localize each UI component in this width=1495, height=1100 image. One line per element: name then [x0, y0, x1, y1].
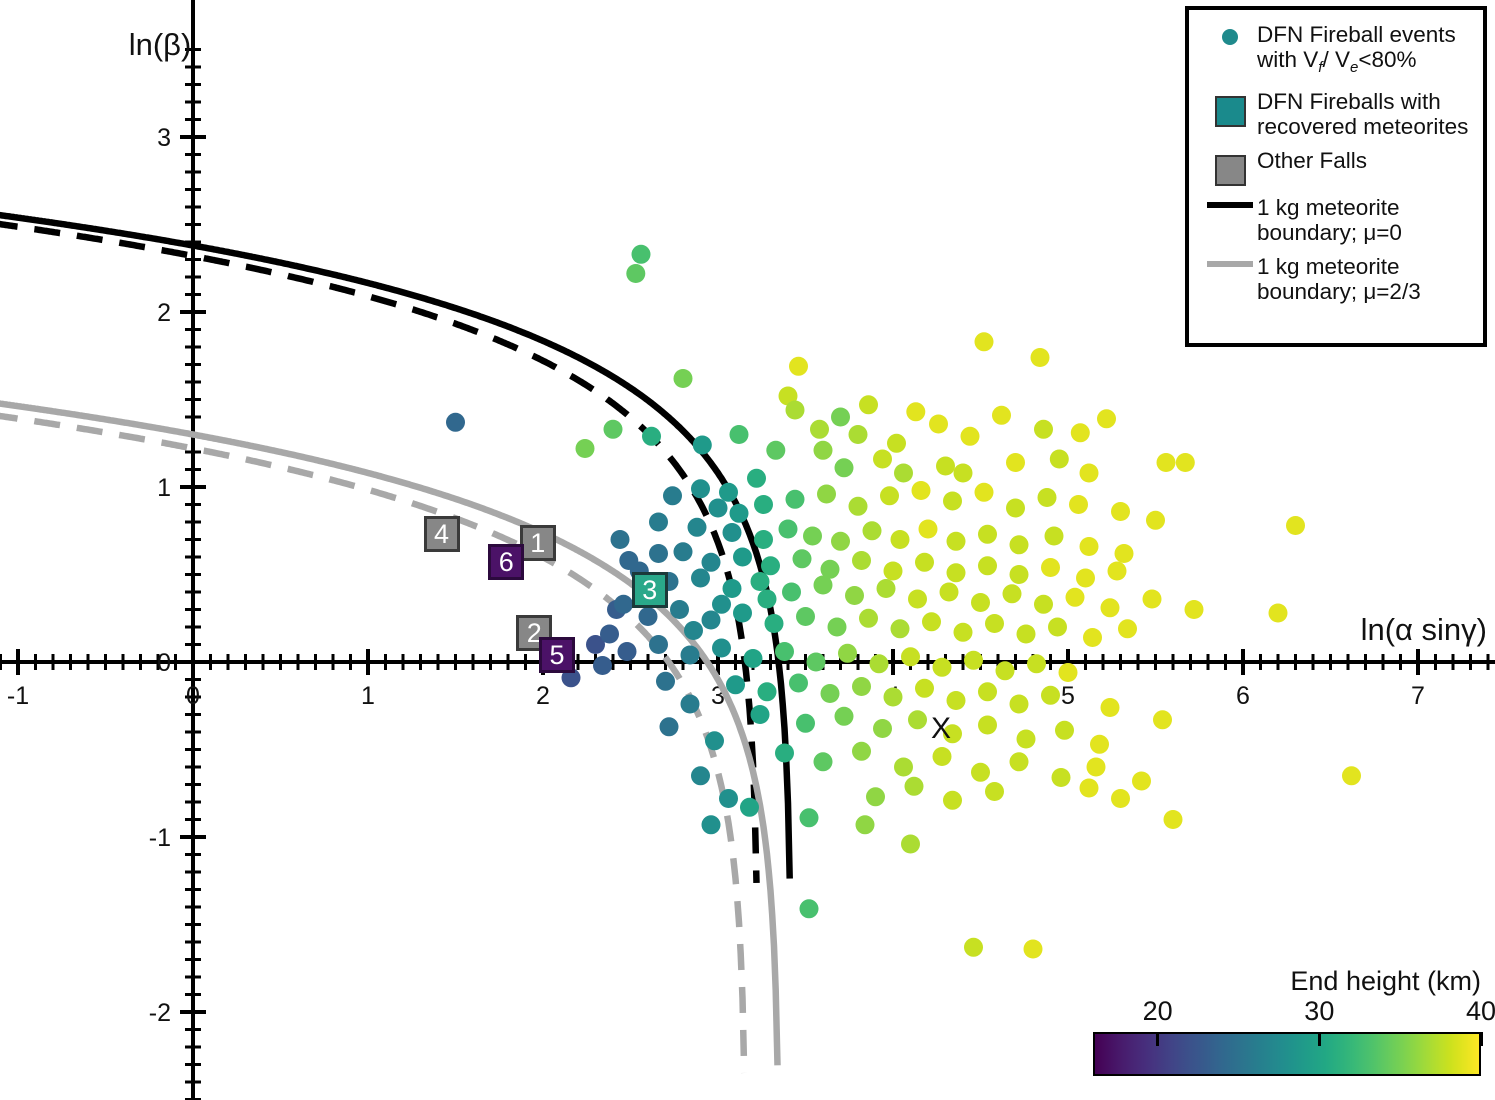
data-point — [975, 332, 994, 351]
data-point — [1024, 940, 1043, 959]
data-point — [649, 635, 668, 654]
data-point — [800, 808, 819, 827]
data-point — [894, 758, 913, 777]
x-tick-label: 7 — [1411, 682, 1425, 710]
data-point — [852, 677, 871, 696]
data-point — [656, 672, 675, 691]
data-point — [978, 682, 997, 701]
data-point — [807, 653, 826, 672]
data-point — [1286, 516, 1305, 535]
data-point — [691, 766, 710, 785]
data-point — [793, 549, 812, 568]
data-point — [1176, 453, 1195, 472]
data-point — [947, 532, 966, 551]
data-point — [1090, 735, 1109, 754]
data-point — [1157, 453, 1176, 472]
boundary-curve — [0, 214, 790, 879]
data-point — [915, 679, 934, 698]
data-point — [1185, 600, 1204, 619]
data-point — [1342, 766, 1361, 785]
legend-label-recovered-meteorites: DFN Fireballs with recovered meteorites — [1257, 89, 1468, 139]
data-point — [733, 548, 752, 567]
data-point — [712, 639, 731, 658]
data-point — [954, 464, 973, 483]
data-point — [828, 618, 847, 637]
data-point — [1034, 595, 1053, 614]
data-point — [611, 530, 630, 549]
legend-key-dot — [1203, 22, 1257, 45]
data-point — [814, 441, 833, 460]
data-point — [766, 441, 785, 460]
data-point — [1111, 789, 1130, 808]
legend-label-other-falls: Other Falls — [1257, 148, 1367, 173]
data-point — [593, 656, 612, 675]
data-point — [1010, 535, 1029, 554]
data-point — [863, 521, 882, 540]
data-point — [915, 553, 934, 572]
numbered-marker-label: 5 — [549, 642, 564, 669]
data-point — [835, 458, 854, 477]
data-point — [681, 695, 700, 714]
x-cross-annotation: X — [931, 712, 951, 745]
y-tick-label: 1 — [157, 474, 171, 502]
data-point — [730, 504, 749, 523]
data-point — [859, 395, 878, 414]
data-point — [1017, 625, 1036, 644]
data-point — [723, 523, 742, 542]
square-icon — [1215, 155, 1246, 186]
x-tick-label: 1 — [361, 682, 375, 710]
data-point — [906, 402, 925, 421]
data-point — [961, 427, 980, 446]
colorbar-tick-label: 20 — [1132, 996, 1184, 1027]
colorbar-tick-label: 40 — [1455, 996, 1495, 1027]
x-tick-label: 2 — [536, 682, 550, 710]
data-point — [1118, 619, 1137, 638]
data-point — [1087, 758, 1106, 777]
data-point — [1010, 565, 1029, 584]
data-point — [632, 245, 651, 264]
x-tick-label: 5 — [1061, 682, 1075, 710]
data-point — [971, 593, 990, 612]
line-icon — [1207, 202, 1253, 208]
data-point — [1006, 453, 1025, 472]
legend-key-square-teal — [1203, 89, 1257, 127]
data-point — [971, 763, 990, 782]
data-point — [884, 562, 903, 581]
data-point — [1006, 499, 1025, 518]
data-point — [978, 525, 997, 544]
data-point — [1041, 686, 1060, 705]
data-point — [891, 530, 910, 549]
numbered-marker-5[interactable]: 5 — [539, 637, 575, 673]
data-point — [1269, 604, 1288, 623]
colorbar-tick — [1156, 1032, 1159, 1046]
data-point-layer — [446, 245, 1361, 959]
data-point — [849, 425, 868, 444]
boundary-curve-layer — [0, 214, 790, 1073]
data-point — [744, 649, 763, 668]
circle-icon — [1222, 29, 1238, 45]
data-point — [775, 744, 794, 763]
data-point — [702, 611, 721, 630]
data-point — [870, 654, 889, 673]
data-point — [933, 747, 952, 766]
data-point — [856, 815, 875, 834]
data-point — [1069, 495, 1088, 514]
data-point — [730, 425, 749, 444]
data-point — [978, 716, 997, 735]
data-point — [936, 457, 955, 476]
data-point — [1080, 537, 1099, 556]
data-point — [800, 899, 819, 918]
data-point — [852, 551, 871, 570]
legend-label-line2: boundary; μ=2/3 — [1257, 279, 1421, 304]
data-point — [873, 719, 892, 738]
legend-label-line1: DFN Fireballs with — [1257, 89, 1441, 114]
data-point — [884, 688, 903, 707]
data-point — [1041, 558, 1060, 577]
colorbar-tick-label: 30 — [1293, 996, 1345, 1027]
data-point — [821, 684, 840, 703]
data-point — [919, 520, 938, 539]
data-point — [933, 658, 952, 677]
legend-label-line1: 1 kg meteorite — [1257, 254, 1400, 279]
data-point — [1153, 710, 1172, 729]
data-point — [1146, 511, 1165, 530]
data-point — [674, 542, 693, 561]
legend-item-boundary-mu23[interactable]: 1 kg meteorite boundary; μ=2/3 — [1203, 254, 1473, 304]
data-point — [786, 490, 805, 509]
data-point — [814, 752, 833, 771]
data-point — [908, 590, 927, 609]
data-point — [964, 938, 983, 957]
data-point — [789, 674, 808, 693]
data-point — [740, 798, 759, 817]
data-point — [1083, 628, 1102, 647]
data-point — [1034, 420, 1053, 439]
data-point — [684, 621, 703, 640]
y-tick-label: 2 — [157, 299, 171, 327]
legend-item-recovered-meteorites[interactable]: DFN Fireballs with recovered meteorites — [1203, 89, 1473, 139]
data-point — [838, 644, 857, 663]
data-point — [733, 604, 752, 623]
data-point — [618, 642, 637, 661]
data-point — [614, 595, 633, 614]
data-point — [912, 481, 931, 500]
legend-label-line1: 1 kg meteorite — [1257, 195, 1400, 220]
data-point — [789, 357, 808, 376]
data-point — [1143, 590, 1162, 609]
data-point — [940, 583, 959, 602]
annotation-layer: X — [931, 712, 951, 745]
data-point — [891, 619, 910, 638]
numbered-marker-1[interactable]: 1 — [520, 525, 556, 561]
y-tick-label: 0 — [157, 649, 171, 677]
data-point — [831, 532, 850, 551]
data-point — [975, 483, 994, 502]
data-point — [1017, 730, 1036, 749]
x-axis-label: ln(α sinγ) — [1361, 612, 1487, 647]
data-point — [1132, 772, 1151, 791]
data-point — [859, 609, 878, 628]
data-point — [831, 408, 850, 427]
data-point — [751, 572, 770, 591]
data-point — [660, 717, 679, 736]
data-point — [803, 527, 822, 546]
data-point — [1027, 654, 1046, 673]
data-point — [873, 450, 892, 469]
data-point — [852, 742, 871, 761]
data-point — [845, 586, 864, 605]
data-point — [719, 789, 738, 808]
data-point — [947, 691, 966, 710]
data-point — [1045, 527, 1064, 546]
data-point — [670, 600, 689, 619]
data-point — [712, 595, 731, 614]
data-point — [1052, 768, 1071, 787]
data-point — [747, 469, 766, 488]
chart-root: -1012345673210-1-2ln(β)ln(α sinγ) X 1234… — [0, 0, 1495, 1100]
data-point — [1066, 588, 1085, 607]
data-point — [1101, 598, 1120, 617]
data-point — [619, 551, 638, 570]
data-point — [709, 499, 728, 518]
data-point — [943, 492, 962, 511]
y-tick-label: -2 — [149, 999, 171, 1027]
data-point — [649, 544, 668, 563]
data-point — [849, 497, 868, 516]
data-point — [758, 682, 777, 701]
legend-key-square-gray — [1203, 148, 1257, 186]
boundary-curve — [0, 403, 778, 1066]
data-point — [688, 518, 707, 537]
data-point — [758, 590, 777, 609]
data-point — [908, 710, 927, 729]
data-point — [719, 483, 738, 502]
data-point — [663, 486, 682, 505]
data-point — [835, 707, 854, 726]
data-point — [880, 486, 899, 505]
data-point — [1071, 423, 1090, 442]
data-point — [600, 625, 619, 644]
data-point — [1076, 569, 1095, 588]
data-point — [1031, 348, 1050, 367]
data-point — [1164, 810, 1183, 829]
numbered-marker-label: 1 — [530, 530, 545, 557]
data-point — [674, 369, 693, 388]
line-icon — [1207, 261, 1253, 267]
legend-item-other-falls[interactable]: Other Falls — [1203, 148, 1473, 186]
data-point — [1048, 618, 1067, 637]
legend-label-line2: boundary; μ=0 — [1257, 220, 1402, 245]
data-point — [765, 614, 784, 633]
x-tick-label: 0 — [186, 682, 200, 710]
y-tick-label: 3 — [157, 124, 171, 152]
legend-label-boundary-mu23: 1 kg meteorite boundary; μ=2/3 — [1257, 254, 1421, 304]
data-point — [985, 614, 1004, 633]
legend-label-line1: DFN Fireball events — [1257, 22, 1456, 47]
legend-box: DFN Fireball events with Vf/ Ve<80% DFN … — [1185, 6, 1487, 347]
data-point — [1059, 663, 1078, 682]
data-point — [810, 420, 829, 439]
boundary-curve — [0, 415, 744, 1073]
y-axis-label: ln(β) — [129, 27, 192, 62]
data-point — [691, 479, 710, 498]
data-point — [702, 815, 721, 834]
data-point — [1050, 450, 1069, 469]
data-point — [446, 413, 465, 432]
data-point — [922, 612, 941, 631]
data-point — [1003, 584, 1022, 603]
data-point — [642, 427, 661, 446]
data-point — [649, 513, 668, 532]
data-point — [705, 731, 724, 750]
data-point — [626, 264, 645, 283]
data-point — [901, 647, 920, 666]
legend-label-line2: recovered meteorites — [1257, 114, 1468, 139]
legend-item-dfn-fireball-events[interactable]: DFN Fireball events with Vf/ Ve<80% — [1203, 22, 1473, 80]
data-point — [796, 714, 815, 733]
legend-label-dfn-fireball-events: DFN Fireball events with Vf/ Ve<80% — [1257, 22, 1456, 80]
colorbar-tick — [1480, 1032, 1483, 1046]
data-point — [639, 607, 658, 626]
data-point — [786, 401, 805, 420]
legend-item-boundary-mu0[interactable]: 1 kg meteorite boundary; μ=0 — [1203, 195, 1473, 245]
data-point — [1111, 502, 1130, 521]
data-point — [929, 415, 948, 434]
data-point — [877, 579, 896, 598]
data-point — [775, 642, 794, 661]
data-point — [817, 485, 836, 504]
y-tick-label: -1 — [149, 824, 171, 852]
data-point — [887, 434, 906, 453]
square-icon — [1215, 96, 1246, 127]
data-point — [1080, 779, 1099, 798]
colorbar-tick — [1318, 1032, 1321, 1046]
data-point — [726, 675, 745, 694]
data-point — [978, 556, 997, 575]
data-point — [954, 623, 973, 642]
data-point — [866, 787, 885, 806]
numbered-marker-6[interactable]: 6 — [488, 544, 524, 580]
legend-label-boundary-mu0: 1 kg meteorite boundary; μ=0 — [1257, 195, 1402, 245]
data-point — [779, 520, 798, 539]
data-point — [1038, 488, 1057, 507]
data-point — [1097, 409, 1116, 428]
data-point — [1010, 695, 1029, 714]
numbered-marker-label: 4 — [434, 521, 449, 548]
data-point — [1010, 752, 1029, 771]
numbered-marker-label: 3 — [642, 577, 657, 604]
numbered-marker-3[interactable]: 3 — [632, 572, 668, 608]
data-point — [996, 661, 1015, 680]
data-point — [576, 439, 595, 458]
data-point — [754, 495, 773, 514]
data-point — [1108, 562, 1127, 581]
data-point — [681, 646, 700, 665]
data-point — [814, 576, 833, 595]
numbered-marker-4[interactable]: 4 — [424, 516, 460, 552]
legend-key-line-black — [1203, 195, 1257, 208]
data-point — [943, 791, 962, 810]
x-tick-label: 6 — [1236, 682, 1250, 710]
data-point — [702, 553, 721, 572]
data-point — [905, 777, 924, 796]
colorbar-title: End height (km) — [1093, 966, 1481, 997]
data-point — [901, 835, 920, 854]
legend-key-line-gray — [1203, 254, 1257, 267]
numbered-marker-label: 6 — [499, 549, 514, 576]
data-point — [604, 420, 623, 439]
data-point — [1101, 698, 1120, 717]
x-tick-label: -1 — [7, 682, 29, 710]
colorbar[interactable] — [1093, 1032, 1481, 1076]
data-point — [1080, 464, 1099, 483]
data-point — [964, 651, 983, 670]
boundary-curve — [0, 223, 757, 883]
data-point — [693, 436, 712, 455]
data-point — [947, 563, 966, 582]
data-point — [761, 556, 780, 575]
data-point — [796, 607, 815, 626]
data-point — [985, 782, 1004, 801]
data-point — [894, 464, 913, 483]
data-point — [691, 569, 710, 588]
data-point — [751, 705, 770, 724]
data-point — [754, 530, 773, 549]
data-point — [1055, 721, 1074, 740]
data-point — [992, 406, 1011, 425]
data-point — [782, 583, 801, 602]
data-point — [723, 579, 742, 598]
data-point — [1115, 544, 1134, 563]
